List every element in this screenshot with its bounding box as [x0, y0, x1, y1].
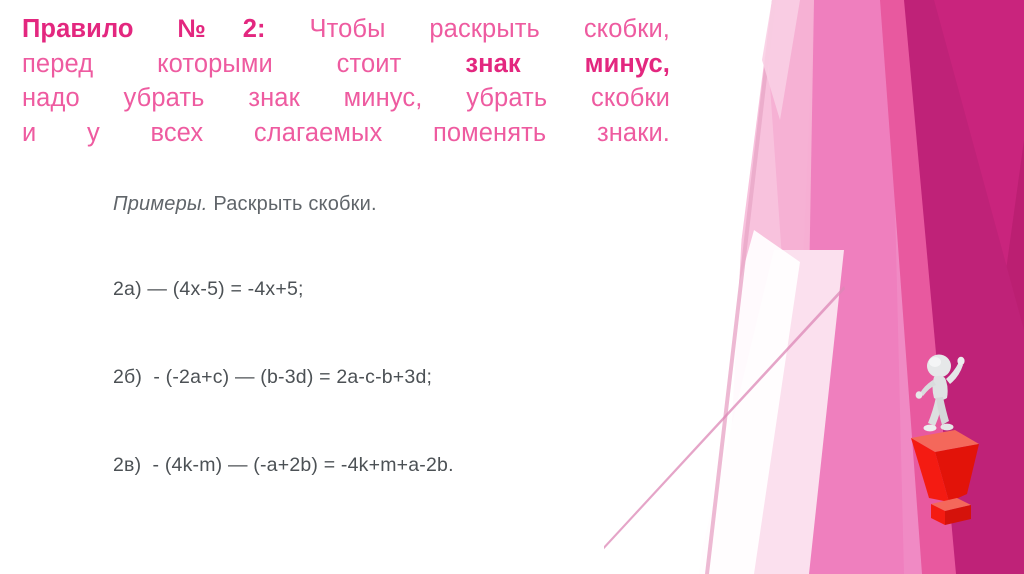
rule-line-4: и у всех слагаемых поменять знаки.: [22, 116, 670, 151]
rule-line-1: Правило №2: Чтобы раскрыть скобки,: [22, 12, 670, 47]
rule-text-block: Правило №2: Чтобы раскрыть скобки, перед…: [22, 12, 670, 150]
mannequin-hand-lowered: [916, 391, 923, 399]
rule-label: Правило №2:: [22, 15, 266, 43]
mannequin-head: [927, 355, 951, 378]
slide-canvas: Правило №2: Чтобы раскрыть скобки, перед…: [0, 0, 1024, 574]
decor-shape-light-pink: [724, 0, 814, 574]
slide-content: Правило №2: Чтобы раскрыть скобки, перед…: [0, 0, 700, 574]
mannequin-hand-raised: [957, 357, 964, 365]
mannequin-foot-right: [941, 424, 954, 431]
mannequin-torso: [933, 376, 948, 400]
examples-heading: Примеры. Раскрыть скобки.: [113, 190, 673, 218]
mannequin-head-highlight: [929, 357, 941, 367]
examples-block: Примеры. Раскрыть скобки. 2а) — (4x-5) =…: [113, 190, 673, 478]
rule-line-2-prefix: перед которыми стоит: [22, 50, 465, 78]
decor-shape-pale-pink: [696, 250, 844, 574]
rule-line-2: перед которыми стоит знак минус,: [22, 47, 670, 82]
example-row-3: 2в) - (4k-m) — (-a+2b) = -4k+m+a-2b.: [113, 452, 673, 478]
rule-line-1-rest: Чтобы раскрыть скобки,: [266, 15, 670, 43]
example-row-1: 2а) — (4x-5) = -4x+5;: [113, 276, 673, 302]
mannequin-foot-left: [924, 425, 937, 432]
examples-heading-rest: Раскрыть скобки.: [208, 193, 377, 215]
examples-heading-italic: Примеры.: [113, 193, 208, 215]
example-row-2: 2б) - (-2a+c) — (b-3d) = 2a-c-b+3d;: [113, 364, 673, 390]
mascot-figure-on-exclamation: [905, 352, 985, 527]
rule-line-3: надо убрать знак минус, убрать скобки: [22, 81, 670, 116]
mannequin-figure: [916, 355, 965, 432]
decor-shape-top-sliver: [762, 0, 800, 120]
rule-line-2-emphasis: знак минус,: [465, 50, 670, 78]
decor-hairline-steep: [705, 0, 776, 574]
decor-shape-mid-pink: [790, 0, 904, 574]
